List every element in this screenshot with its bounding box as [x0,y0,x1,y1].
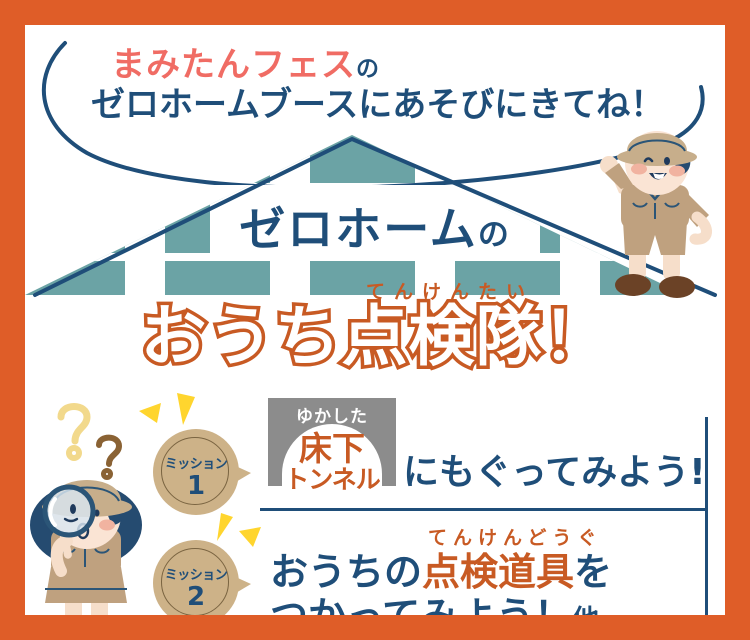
bubble-tail-2: にあそびにきてね！ [358,85,664,125]
sparkle-group-1 [137,387,217,433]
mission-2-line-2: つかってみよう！他 [270,585,599,615]
separator-line-1 [260,508,705,511]
bubble-highlight-2: ゼロホームブース [91,85,358,125]
mission-2-line2-suffix: 他 [572,605,599,615]
explorer-boy-illustration [585,123,725,303]
bubble-line-2: ゼロホームブースにあそびにきてね！ [91,77,664,126]
floor-tunnel-graphic: ゆかした 床下 トンネル [268,398,396,498]
poster-inner-panel: まみたんフェスの ゼロホームブースにあそびにきてね！ ゼロホームの てんけんたい… [25,25,725,615]
explorer-girl-illustration [25,463,168,615]
brand-name: ゼロホーム [239,202,478,256]
mission-1-text: にもぐってみよう! [403,443,706,495]
tunnel-sub-label: トンネル [268,460,396,496]
main-title: おうち点検隊！ [25,302,725,371]
mission-2-line2-text: つかってみよう！ [270,594,572,615]
brand-particle: の [478,217,511,253]
poster: まみたんフェスの ゼロホームブースにあそびにきてね！ ゼロホームの てんけんたい… [0,0,750,640]
